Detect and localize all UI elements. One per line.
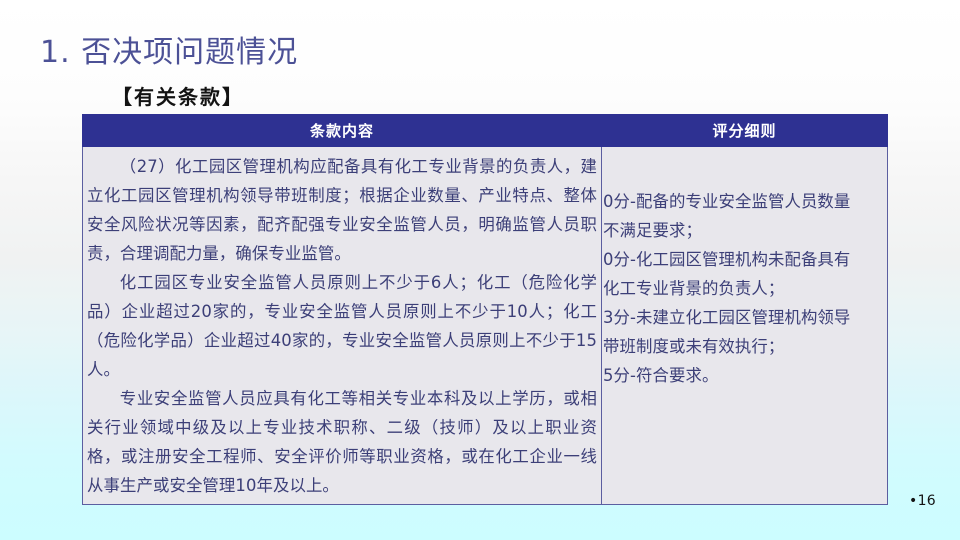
clause-paragraph-1: （27）化工园区管理机构应配备具有化工专业背景的负责人，建立化工园区管理机构领导… (87, 152, 597, 268)
rule-line-7: 5分-符合要求。 (603, 361, 885, 390)
rule-line-1: 0分-配备的专业安全监管人员数量 (603, 187, 885, 216)
cell-rule-content: 0分-配备的专业安全监管人员数量 不满足要求； 0分-化工园区管理机构未配备具有… (602, 147, 888, 505)
rule-line-2: 不满足要求； (603, 216, 885, 245)
slide-canvas: 1. 否决项问题情况 【有关条款】 条款内容 评分细则 （27）化工园区管理机构… (0, 0, 960, 540)
rule-line-6: 带班制度或未有效执行； (603, 332, 885, 361)
clause-text-block: （27）化工园区管理机构应配备具有化工专业背景的负责人，建立化工园区管理机构领导… (83, 147, 601, 504)
table-header: 条款内容 评分细则 (83, 115, 888, 147)
table-row: （27）化工园区管理机构应配备具有化工专业背景的负责人，建立化工园区管理机构领导… (83, 147, 888, 505)
clause-paragraph-3: 专业安全监管人员应具有化工等相关专业本科及以上学历，或相关行业领域中级及以上专业… (87, 384, 597, 500)
clause-table: 条款内容 评分细则 （27）化工园区管理机构应配备具有化工专业背景的负责人，建立… (82, 114, 888, 505)
page-title: 1. 否决项问题情况 (40, 34, 298, 72)
section-subheading: 【有关条款】 (112, 84, 244, 110)
column-header-rule: 评分细则 (602, 115, 888, 147)
table-header-row: 条款内容 评分细则 (83, 115, 888, 147)
rule-line-3: 0分-化工园区管理机构未配备具有 (603, 245, 885, 274)
cell-clause-content: （27）化工园区管理机构应配备具有化工专业背景的负责人，建立化工园区管理机构领导… (83, 147, 602, 505)
rule-text-block: 0分-配备的专业安全监管人员数量 不满足要求； 0分-化工园区管理机构未配备具有… (602, 187, 887, 390)
rule-line-5: 3分-未建立化工园区管理机构领导 (603, 303, 885, 332)
table-body: （27）化工园区管理机构应配备具有化工专业背景的负责人，建立化工园区管理机构领导… (83, 147, 888, 505)
page-number: •16 (909, 492, 936, 510)
rule-line-4: 化工专业背景的负责人； (603, 274, 885, 303)
column-header-clause: 条款内容 (83, 115, 602, 147)
rule-cell-wrapper: 0分-配备的专业安全监管人员数量 不满足要求； 0分-化工园区管理机构未配备具有… (602, 147, 887, 429)
clause-paragraph-2: 化工园区专业安全监管人员原则上不少于6人；化工（危险化学品）企业超过20家的，专… (87, 268, 597, 384)
